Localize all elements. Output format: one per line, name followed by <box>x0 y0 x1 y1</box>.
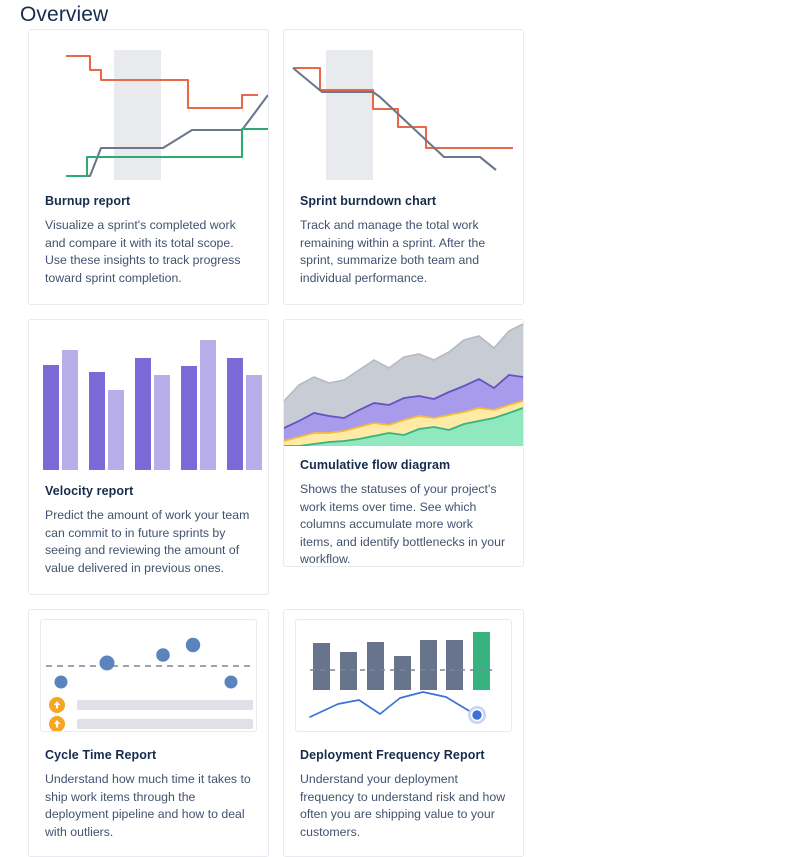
card-title: Cumulative flow diagram <box>300 458 507 472</box>
cycle-time-point <box>55 676 68 689</box>
velocity-bar-completed <box>154 375 170 470</box>
report-card-cycle-time-report[interactable]: Cycle Time Report Understand how much ti… <box>28 609 269 857</box>
card-body: Burnup report Visualize a sprint's compl… <box>29 182 268 287</box>
priority-high-stem <box>56 724 58 728</box>
deployment-bar-highlight <box>473 632 490 690</box>
deployment-frequency-inner-frame <box>295 619 512 732</box>
card-title: Cycle Time Report <box>45 748 252 762</box>
report-card-burnup-report[interactable]: Burnup report Visualize a sprint's compl… <box>28 29 269 305</box>
velocity-bar-commitment <box>181 366 197 470</box>
cycle-time-point <box>156 648 170 662</box>
deployment-bar <box>446 640 463 690</box>
cycle-time-svg <box>41 620 257 732</box>
sprint-highlight-band <box>326 50 373 180</box>
priority-high-stem <box>56 705 58 709</box>
report-card-cumulative-flow-diagram[interactable]: Cumulative flow diagram Shows the status… <box>283 319 524 567</box>
deployment-frequency-thumbnail <box>284 610 523 736</box>
sprint-highlight-band <box>114 50 161 180</box>
card-description: Shows the statuses of your project's wor… <box>300 481 507 567</box>
card-body: Sprint burndown chart Track and manage t… <box>284 182 523 287</box>
cycle-time-row-bar <box>77 719 253 729</box>
card-title: Velocity report <box>45 484 252 498</box>
deployment-bar <box>340 652 357 690</box>
deployment-sparkline <box>310 692 476 717</box>
deployment-bar <box>420 640 437 690</box>
cumulative-flow-thumbnail <box>284 320 523 446</box>
cycle-time-point <box>100 656 115 671</box>
burndown-chart-thumbnail <box>284 30 523 182</box>
overview-page: Overview Burnup report Visualize a sprin… <box>0 0 800 568</box>
card-description: Track and manage the total work remainin… <box>300 217 507 287</box>
velocity-bar-commitment <box>89 372 105 470</box>
card-body: Cycle Time Report Understand how much ti… <box>29 736 268 841</box>
report-card-velocity-report[interactable]: Velocity report Predict the amount of wo… <box>28 319 269 595</box>
card-description: Understand how much time it takes to shi… <box>45 771 252 841</box>
deployment-frequency-svg <box>296 620 512 732</box>
card-title: Sprint burndown chart <box>300 194 507 208</box>
velocity-bar-completed <box>246 375 262 470</box>
cycle-time-point <box>186 638 200 652</box>
burnup-work-line <box>66 129 268 176</box>
cumulative-flow-svg <box>284 320 523 446</box>
deployment-bar <box>367 642 384 690</box>
deployment-sparkline-end-marker <box>472 710 483 721</box>
report-card-deployment-frequency-report[interactable]: Deployment Frequency Report Understand y… <box>283 609 524 857</box>
card-title: Burnup report <box>45 194 252 208</box>
burnup-chart-thumbnail <box>29 30 268 182</box>
card-title: Deployment Frequency Report <box>300 748 507 762</box>
burndown-chart-svg <box>284 30 523 182</box>
card-description: Understand your deployment frequency to … <box>300 771 507 841</box>
velocity-bar-completed <box>62 350 78 470</box>
velocity-bar-completed <box>108 390 124 470</box>
report-card-sprint-burndown-chart[interactable]: Sprint burndown chart Track and manage t… <box>283 29 524 305</box>
cycle-time-inner-frame <box>40 619 257 732</box>
cycle-time-point <box>225 676 238 689</box>
deployment-bar <box>313 643 330 690</box>
reports-grid: Burnup report Visualize a sprint's compl… <box>28 29 778 857</box>
velocity-chart-svg <box>29 320 268 472</box>
velocity-bar-commitment <box>43 365 59 470</box>
velocity-bar-commitment <box>227 358 243 470</box>
card-body: Velocity report Predict the amount of wo… <box>29 472 268 577</box>
velocity-bar-completed <box>200 340 216 470</box>
velocity-chart-thumbnail <box>29 320 268 472</box>
velocity-bar-commitment <box>135 358 151 470</box>
cycle-time-thumbnail <box>29 610 268 736</box>
burnup-scope-line <box>66 56 258 108</box>
burndown-guideline <box>293 68 496 170</box>
cycle-time-row-bar <box>77 700 253 710</box>
deployment-bar <box>394 656 411 690</box>
card-description: Predict the amount of work your team can… <box>45 507 252 577</box>
page-title: Overview <box>20 0 108 30</box>
card-body: Cumulative flow diagram Shows the status… <box>284 446 523 567</box>
card-body: Deployment Frequency Report Understand y… <box>284 736 523 841</box>
card-description: Visualize a sprint's completed work and … <box>45 217 252 287</box>
burnup-chart-svg <box>29 30 268 182</box>
